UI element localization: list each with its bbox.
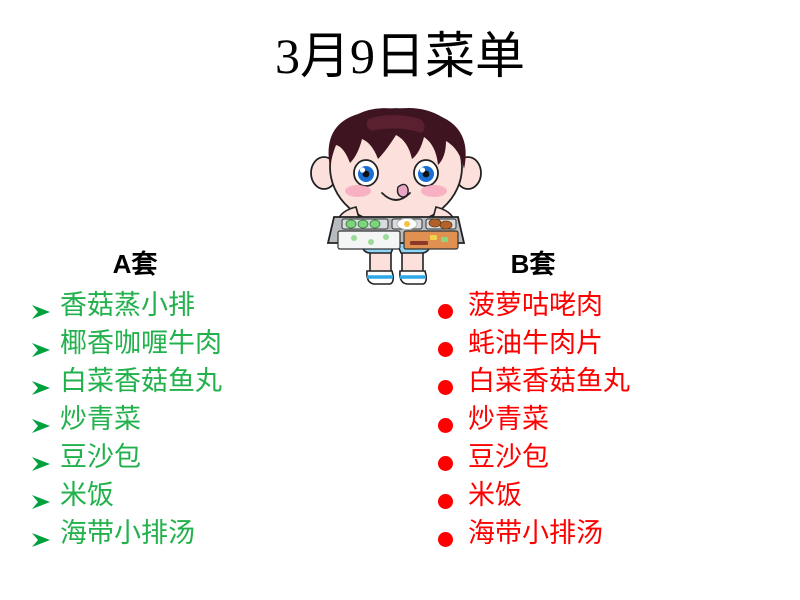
menu-column-set-b: B套 菠萝咕咾肉 蚝油牛肉片 白菜香菇鱼丸 炒青菜 豆沙包 米饭 海带小排汤 xyxy=(438,250,778,552)
triangle-arrow-bullet-icon xyxy=(30,329,60,358)
circle-bullet-icon xyxy=(438,330,468,357)
set-a-header: A套 xyxy=(30,250,360,286)
circle-bullet-icon xyxy=(438,292,468,319)
circle-bullet-icon xyxy=(438,406,468,433)
dish-name: 米饭 xyxy=(60,476,114,514)
list-item[interactable]: 白菜香菇鱼丸 xyxy=(438,362,778,400)
triangle-arrow-bullet-icon xyxy=(30,519,60,548)
dish-name: 米饭 xyxy=(468,476,522,514)
list-item[interactable]: 海带小排汤 xyxy=(30,514,360,552)
menu-column-set-a: A套 香菇蒸小排 椰香咖喱牛肉 白菜香菇鱼丸 炒青菜 xyxy=(30,250,360,552)
set-b-suffix: 套 xyxy=(529,250,555,279)
circle-bullet-icon xyxy=(438,482,468,509)
triangle-arrow-bullet-icon xyxy=(30,405,60,434)
list-item[interactable]: 椰香咖喱牛肉 xyxy=(30,324,360,362)
shoes-group xyxy=(367,271,426,284)
list-item[interactable]: 炒青菜 xyxy=(438,400,778,438)
dish-name: 海带小排汤 xyxy=(60,514,195,552)
triangle-arrow-bullet-icon xyxy=(30,481,60,510)
lunch-tray xyxy=(328,217,464,249)
dish-name: 炒青菜 xyxy=(60,400,141,438)
dish-name: 菠萝咕咾肉 xyxy=(468,286,603,324)
dish-name: 豆沙包 xyxy=(60,438,141,476)
triangle-arrow-bullet-icon xyxy=(30,291,60,320)
dish-name: 白菜香菇鱼丸 xyxy=(60,362,222,400)
list-item[interactable]: 白菜香菇鱼丸 xyxy=(30,362,360,400)
list-item[interactable]: 香菇蒸小排 xyxy=(30,286,360,324)
dish-name: 椰香咖喱牛肉 xyxy=(60,324,222,362)
set-b-dish-list: 菠萝咕咾肉 蚝油牛肉片 白菜香菇鱼丸 炒青菜 豆沙包 米饭 海带小排汤 xyxy=(438,286,778,552)
dish-name: 海带小排汤 xyxy=(468,514,603,552)
list-item[interactable]: 豆沙包 xyxy=(438,438,778,476)
list-item[interactable]: 海带小排汤 xyxy=(438,514,778,552)
page-title: 3月9日菜单 xyxy=(0,30,800,83)
dish-name: 豆沙包 xyxy=(468,438,549,476)
list-item[interactable]: 菠萝咕咾肉 xyxy=(438,286,778,324)
triangle-arrow-bullet-icon xyxy=(30,443,60,472)
set-a-letter: A xyxy=(113,249,132,279)
dish-name: 白菜香菇鱼丸 xyxy=(468,362,630,400)
list-item[interactable]: 炒青菜 xyxy=(30,400,360,438)
list-item[interactable]: 豆沙包 xyxy=(30,438,360,476)
dish-name: 蚝油牛肉片 xyxy=(468,324,603,362)
set-a-suffix: 套 xyxy=(131,250,157,279)
circle-bullet-icon xyxy=(438,368,468,395)
dish-name: 香菇蒸小排 xyxy=(60,286,195,324)
set-b-header: B套 xyxy=(438,250,778,286)
list-item[interactable]: 米饭 xyxy=(30,476,360,514)
list-item[interactable]: 米饭 xyxy=(438,476,778,514)
set-a-dish-list: 香菇蒸小排 椰香咖喱牛肉 白菜香菇鱼丸 炒青菜 豆沙包 xyxy=(30,286,360,552)
list-item[interactable]: 蚝油牛肉片 xyxy=(438,324,778,362)
circle-bullet-icon xyxy=(438,444,468,471)
circle-bullet-icon xyxy=(438,520,468,547)
dish-name: 炒青菜 xyxy=(468,400,549,438)
triangle-arrow-bullet-icon xyxy=(30,367,60,396)
set-b-letter: B xyxy=(511,249,530,279)
